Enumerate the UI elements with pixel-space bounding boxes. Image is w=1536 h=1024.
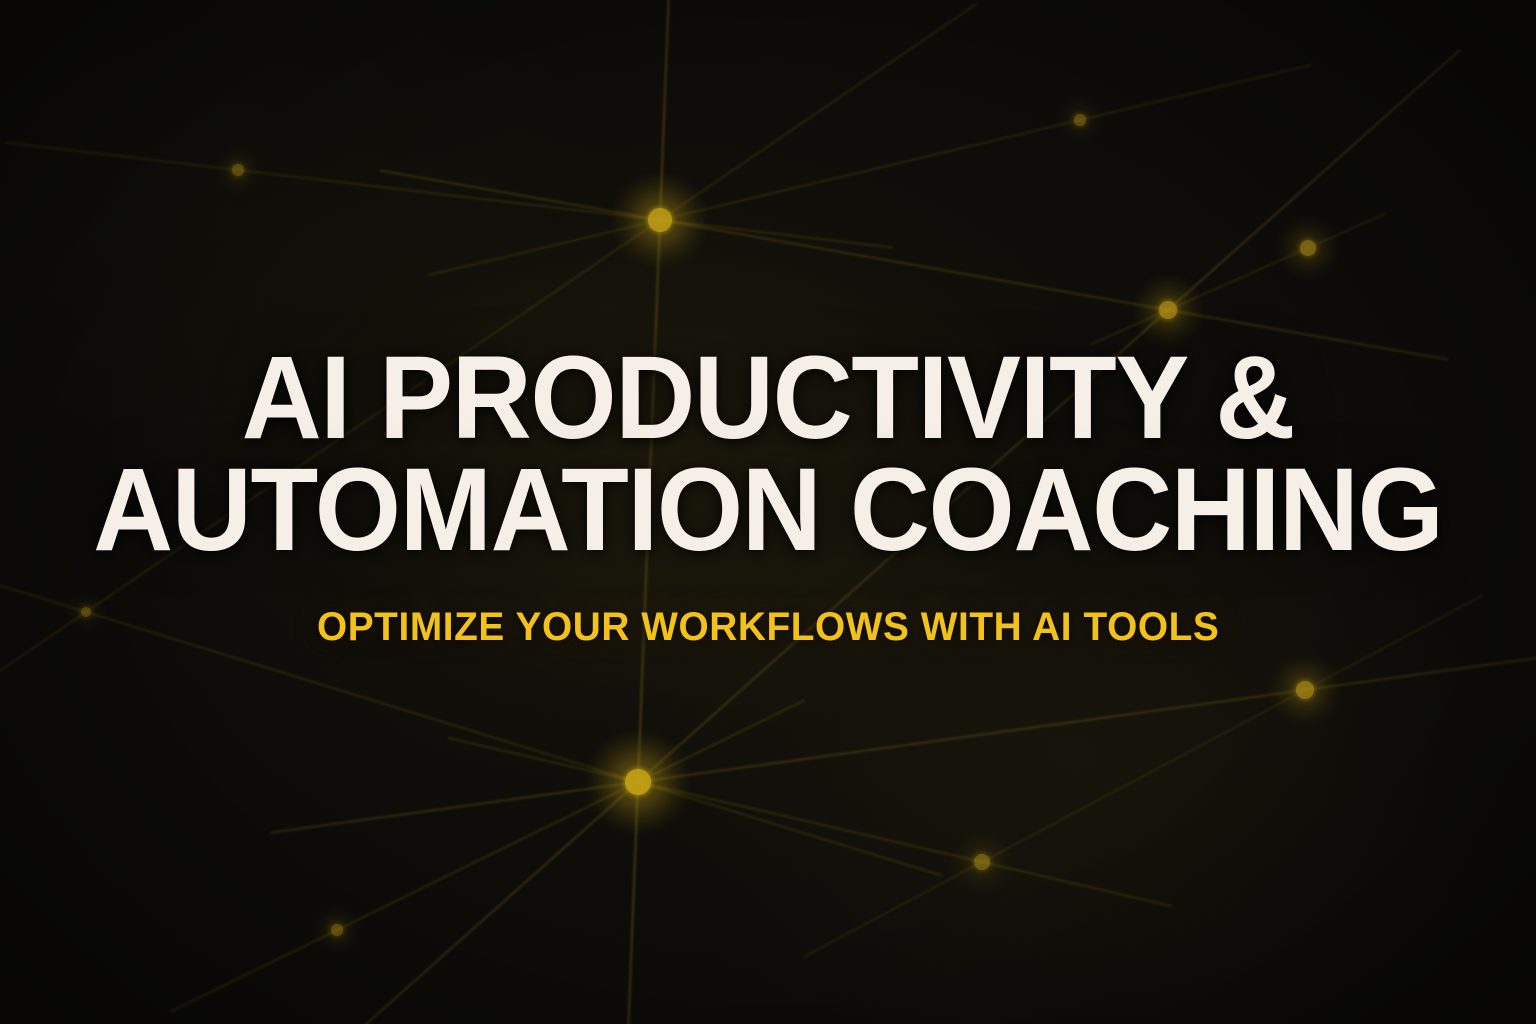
headline-line-2: AUTOMATION COACHING bbox=[93, 454, 1442, 566]
subtitle-tagline: OPTIMIZE YOUR WORKFLOWS WITH AI TOOLS bbox=[317, 604, 1219, 650]
poster-content: AI PRODUCTIVITY & AUTOMATION COACHING OP… bbox=[0, 0, 1536, 1024]
headline-line-1: AI PRODUCTIVITY & bbox=[242, 342, 1294, 454]
poster-canvas: AI PRODUCTIVITY & AUTOMATION COACHING OP… bbox=[0, 0, 1536, 1024]
